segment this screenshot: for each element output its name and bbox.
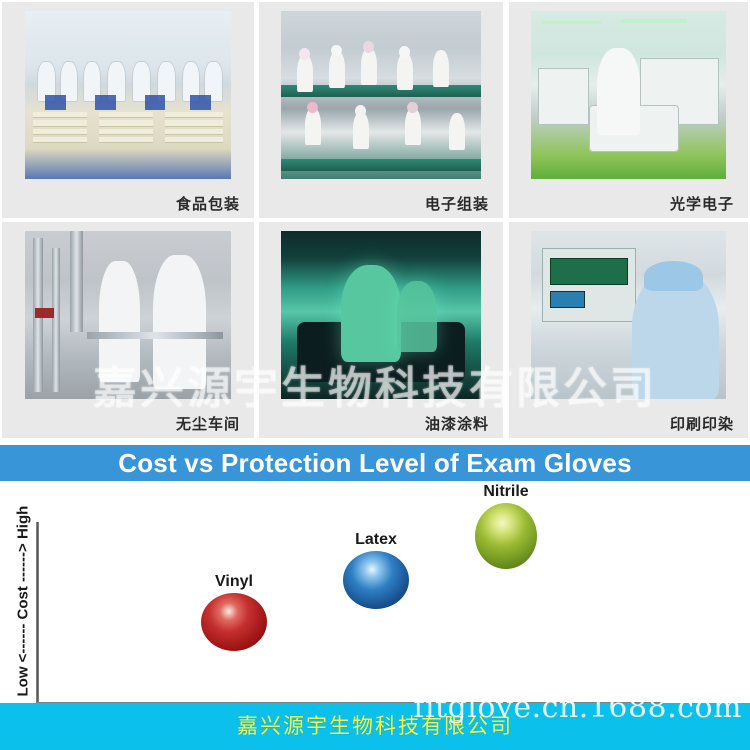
photo-frame bbox=[281, 11, 481, 179]
photo-caption: 光学电子 bbox=[670, 193, 734, 214]
bubble-nitrile[interactable] bbox=[475, 503, 537, 569]
footer-bar: 嘉兴源宇生物科技有限公司 bbox=[0, 703, 750, 750]
chart-title: Cost vs Protection Level of Exam Gloves bbox=[0, 445, 750, 481]
data-point-label: Vinyl bbox=[168, 573, 300, 591]
photo-grid-row: 食品包装 bbox=[0, 2, 750, 220]
chart-plot-area: Low <------ Cost ------> High Low <-----… bbox=[0, 481, 750, 703]
photo-frame bbox=[25, 231, 232, 399]
photo-printing-dyeing bbox=[531, 231, 727, 399]
y-axis-label: Low <------ Cost ------> High bbox=[15, 507, 32, 697]
photo-optical-electronics bbox=[531, 11, 727, 179]
photo-frame bbox=[531, 11, 727, 179]
photo-caption: 无尘车间 bbox=[176, 413, 240, 434]
photo-grid-row: 无尘车间 油漆涂料 印刷印染 bbox=[0, 222, 750, 440]
footer-company-name: 嘉兴源宇生物科技有限公司 bbox=[0, 703, 750, 750]
data-point-label: Nitrile bbox=[440, 483, 572, 501]
photo-paint-coating bbox=[281, 231, 481, 399]
photo-card-optical-electronics[interactable]: 光学电子 bbox=[509, 2, 748, 218]
photo-frame bbox=[531, 231, 727, 399]
bubble-vinyl[interactable] bbox=[201, 593, 267, 651]
photo-food-packaging bbox=[25, 11, 232, 179]
photo-frame bbox=[25, 11, 232, 179]
photo-card-cleanroom[interactable]: 无尘车间 bbox=[2, 222, 254, 438]
photo-grid: 食品包装 bbox=[0, 0, 750, 443]
chart-panel: Cost vs Protection Level of Exam Gloves … bbox=[0, 443, 750, 703]
photo-caption: 印刷印染 bbox=[670, 413, 734, 434]
photo-card-paint-coating[interactable]: 油漆涂料 bbox=[259, 222, 503, 438]
photo-caption: 油漆涂料 bbox=[425, 413, 489, 434]
photo-caption: 食品包装 bbox=[176, 193, 240, 214]
data-point-label: Latex bbox=[310, 531, 442, 549]
photo-cleanroom bbox=[25, 231, 232, 399]
y-axis-line bbox=[36, 522, 39, 702]
chart-title-bar: Cost vs Protection Level of Exam Gloves bbox=[0, 445, 750, 481]
photo-card-printing-dyeing[interactable]: 印刷印染 bbox=[509, 222, 748, 438]
photo-caption: 电子组装 bbox=[425, 193, 489, 214]
photo-card-food-packaging[interactable]: 食品包装 bbox=[2, 2, 254, 218]
photo-electronic-assembly bbox=[281, 11, 481, 179]
photo-frame bbox=[281, 231, 481, 399]
photo-card-electronic-assembly[interactable]: 电子组装 bbox=[259, 2, 503, 218]
bubble-latex[interactable] bbox=[343, 551, 409, 609]
